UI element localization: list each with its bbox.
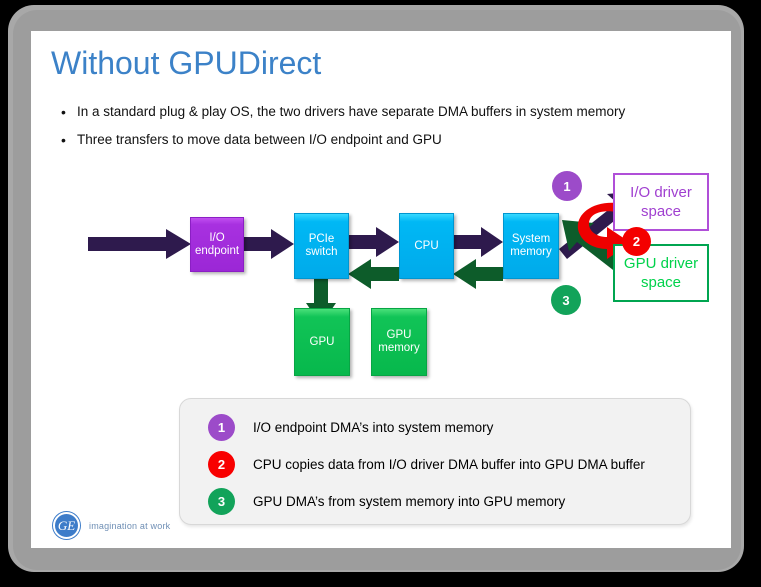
ge-tagline: imagination at work <box>89 521 170 531</box>
arrow-cpu-to-system-memory <box>453 227 503 257</box>
diagram-box-label: PCIeswitch <box>306 233 338 259</box>
legend-badge: 3 <box>208 488 235 515</box>
driver-box-label: I/O driverspace <box>630 183 692 221</box>
ge-logo: GE imagination at work <box>53 512 170 539</box>
legend-panel: 1 I/O endpoint DMA’s into system memory … <box>179 398 691 525</box>
legend-item-2: 2 CPU copies data from I/O driver DMA bu… <box>208 451 645 478</box>
architecture-diagram: I/Oendpoint PCIeswitch CPU Systemmemory … <box>31 141 731 371</box>
diagram-marker-3[interactable]: 3 <box>551 285 581 315</box>
marker-number: 2 <box>633 234 640 249</box>
diagram-box-label: Systemmemory <box>510 233 552 259</box>
arrow-io-endpoint-to-pcie <box>243 229 294 259</box>
diagram-box-label: CPU <box>414 240 438 253</box>
legend-badge: 2 <box>208 451 235 478</box>
legend-badge: 1 <box>208 414 235 441</box>
list-item: • In a standard plug & play OS, the two … <box>61 103 721 121</box>
marker-number: 3 <box>562 293 569 308</box>
legend-item-3: 3 GPU DMA’s from system memory into GPU … <box>208 488 565 515</box>
legend-text: GPU DMA’s from system memory into GPU me… <box>253 494 565 509</box>
arrow-input-to-io-endpoint <box>88 229 191 259</box>
diagram-box-gpu[interactable]: GPU <box>294 308 350 376</box>
page-title: Without GPUDirect <box>51 45 321 82</box>
bullet-text: In a standard plug & play OS, the two dr… <box>77 103 625 121</box>
bullet-marker-icon: • <box>61 103 77 121</box>
diagram-marker-1[interactable]: 1 <box>552 171 582 201</box>
diagram-box-system-memory[interactable]: Systemmemory <box>503 213 559 279</box>
driver-box-label: GPU driverspace <box>624 254 698 292</box>
diagram-box-pcie-switch[interactable]: PCIeswitch <box>294 213 349 279</box>
diagram-box-gpu-memory[interactable]: GPUmemory <box>371 308 427 376</box>
arrow-cpu-to-pcie <box>348 259 399 289</box>
diagram-box-label: GPU <box>310 336 335 349</box>
legend-item-1: 1 I/O endpoint DMA’s into system memory <box>208 414 493 441</box>
diagram-box-label: I/Oendpoint <box>195 232 239 258</box>
ge-monogram-icon: GE <box>53 512 80 539</box>
slide-canvas: Without GPUDirect • In a standard plug &… <box>31 31 731 548</box>
diagram-box-label: GPUmemory <box>378 329 420 355</box>
arrow-system-memory-to-cpu <box>453 259 503 289</box>
legend-text: CPU copies data from I/O driver DMA buff… <box>253 457 645 472</box>
legend-text: I/O endpoint DMA’s into system memory <box>253 420 493 435</box>
diagram-marker-2[interactable]: 2 <box>622 227 651 256</box>
arrow-pcie-to-cpu <box>348 227 399 257</box>
diagram-box-io-endpoint[interactable]: I/Oendpoint <box>190 217 244 272</box>
diagram-box-cpu[interactable]: CPU <box>399 213 454 279</box>
marker-number: 1 <box>563 179 570 194</box>
diagram-box-io-driver-space[interactable]: I/O driverspace <box>613 173 709 231</box>
